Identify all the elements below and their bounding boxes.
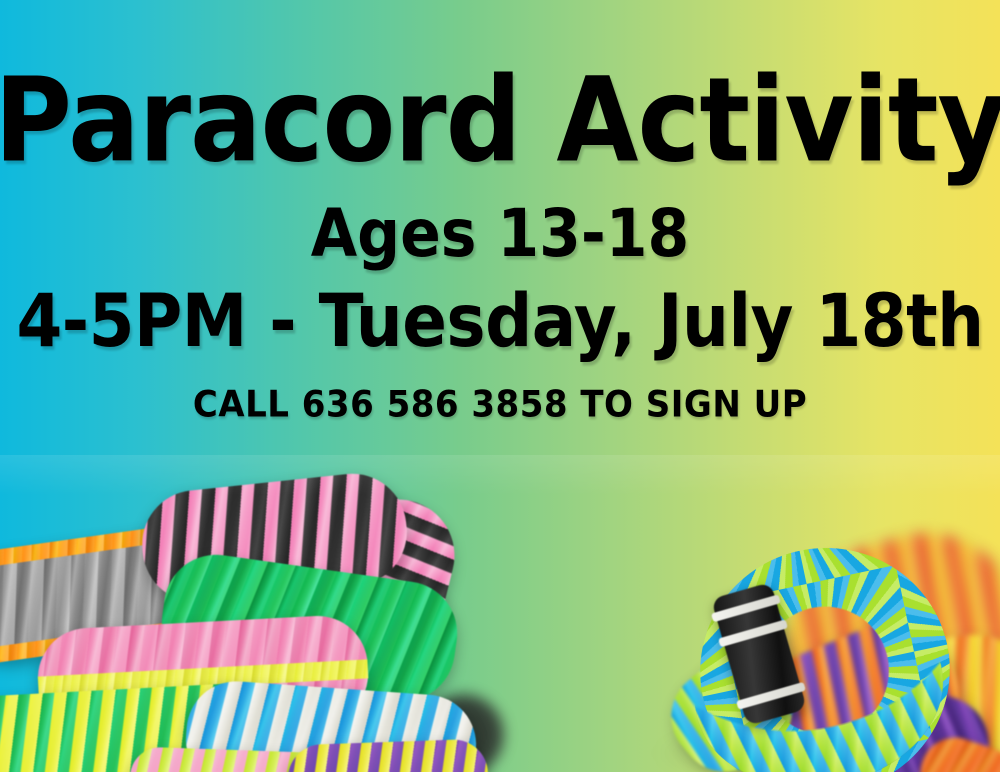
flyer-text-block: Paracord Activity Ages 13-18 4-5PM - Tue…: [0, 0, 1000, 422]
buckle-bar-bottom: [736, 682, 806, 710]
signup-call-to-action: CALL 636 586 3858 TO SIGN UP: [0, 387, 1000, 423]
purple-yellow-bracelet: [287, 739, 489, 772]
buckle-bar-top: [711, 594, 781, 622]
buckle-bar-middle: [718, 619, 788, 647]
time-and-date-label: 4-5PM - Tuesday, July 18th: [0, 286, 1000, 359]
page-title: Paracord Activity: [0, 62, 1000, 178]
photo-blend-haze: [0, 455, 1000, 495]
age-range-label: Ages 13-18: [0, 201, 1000, 267]
paracord-activity-flyer: Paracord Activity Ages 13-18 4-5PM - Tue…: [0, 0, 1000, 772]
